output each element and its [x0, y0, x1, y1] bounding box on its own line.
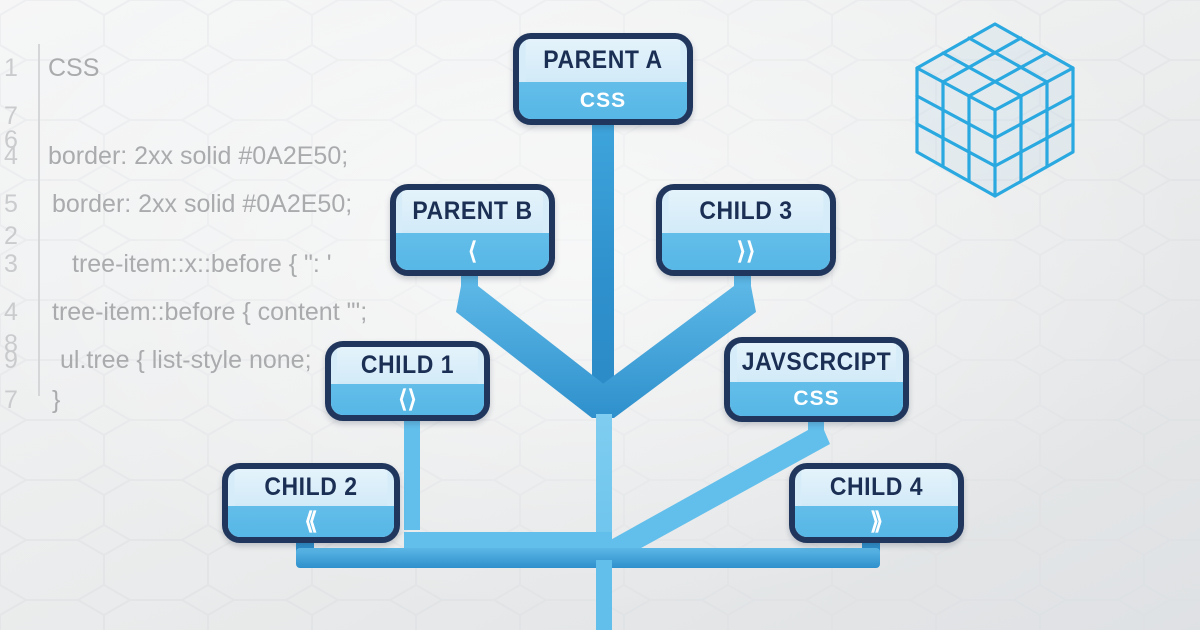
chevron-double-right-icon: ⟫ — [795, 506, 958, 537]
connector-trunk-upper — [592, 118, 614, 418]
tree-node-child-1[interactable]: CHILD 1 ⟨⟩ — [325, 341, 490, 421]
tree-node-subtitle: CSS — [519, 82, 687, 119]
chevron-left-icon: ⟨ — [396, 233, 549, 270]
tree-node-title: CHILD 4 — [802, 469, 952, 506]
tree-node-parent-b[interactable]: PARENT B ⟨ — [390, 184, 555, 276]
tree-node-parent-a[interactable]: PARENT A CSS — [513, 33, 693, 125]
diagram-canvas: 1 CSS 7 6 4 border: 2xx solid #0A2E50; 5… — [0, 0, 1200, 630]
connector-bottom-bar — [296, 548, 880, 568]
chevron-double-right-icon: ⟩⟩ — [662, 233, 830, 270]
angle-brackets-icon: ⟨⟩ — [331, 384, 484, 415]
tree-node-javascript[interactable]: JAVSCRCIPT CSS — [724, 337, 909, 422]
tree-node-title: CHILD 1 — [337, 347, 478, 384]
tree-node-title: CHILD 3 — [669, 190, 824, 233]
tree-node-title: JAVSCRCIPT — [737, 343, 896, 382]
tree-node-title: PARENT A — [526, 39, 681, 82]
connector-stem-child-1 — [404, 415, 420, 530]
chevron-double-left-icon: ⟪ — [228, 506, 394, 537]
tree-node-title: PARENT B — [402, 190, 543, 233]
tree-node-child-3[interactable]: CHILD 3 ⟩⟩ — [656, 184, 836, 276]
tree-node-child-2[interactable]: CHILD 2 ⟪ — [222, 463, 400, 543]
tree-node-child-4[interactable]: CHILD 4 ⟫ — [789, 463, 964, 543]
tree-node-title: CHILD 2 — [235, 469, 388, 506]
connector-trunk-bottom — [596, 560, 612, 630]
tree-node-subtitle: CSS — [730, 382, 903, 416]
